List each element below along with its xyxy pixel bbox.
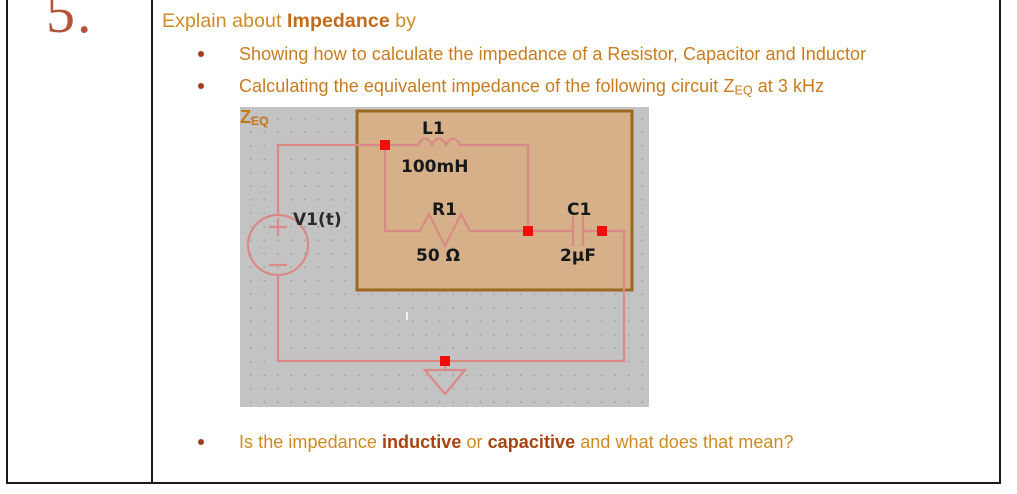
question-lead: Explain about Impedance by	[162, 10, 416, 33]
question-number: 5.	[46, 0, 94, 42]
component-ref-l1: L1	[422, 119, 445, 139]
bullet-dot-icon	[198, 439, 204, 445]
table-border-middle	[151, 0, 153, 484]
bullet3-p3: and what does that mean?	[575, 432, 793, 452]
bullet3-b2: capacitive	[488, 432, 576, 452]
bullet-dot-icon	[198, 51, 204, 57]
component-value-r1: 50 Ω	[416, 246, 460, 266]
table-border-right	[999, 0, 1001, 484]
node-marker-b	[523, 226, 533, 236]
bullet3-b1: inductive	[382, 432, 461, 452]
lead-prefix: Explain about	[162, 10, 287, 32]
ground-symbol-icon	[425, 370, 465, 394]
node-marker-ground	[440, 356, 450, 366]
table-border-left	[6, 0, 8, 484]
component-ref-c1: C1	[567, 200, 591, 220]
bullet3-p2: or	[461, 432, 487, 452]
bullet-inductive-or-capacitive: Is the impedance inductive or capacitive…	[198, 432, 794, 453]
table-border-bottom	[6, 482, 1001, 484]
circuit-diagram: L1 100mH R1 50 Ω C1 2µF V1(t) ZEQ	[240, 107, 649, 407]
component-value-c1: 2µF	[560, 246, 596, 266]
component-value-l1: 100mH	[401, 157, 468, 177]
node-marker-c	[597, 226, 607, 236]
bullet-calc-methods-label: Showing how to calculate the impedance o…	[239, 44, 866, 65]
slide-page: 5. Explain about Impedance by Showing ho…	[0, 0, 1017, 494]
lead-keyword: Impedance	[287, 10, 390, 32]
bullet3-p1: Is the impedance	[239, 432, 382, 452]
bullet2-subscript: EQ	[734, 83, 752, 97]
question-content: Explain about Impedance by Showing how t…	[162, 0, 994, 482]
bullet2-pre: Calculating the equivalent impedance of …	[239, 76, 734, 96]
bullet-calc-methods: Showing how to calculate the impedance o…	[198, 44, 866, 65]
node-marker-a	[380, 140, 390, 150]
image-speck	[406, 312, 408, 320]
bullet2-post: at 3 kHz	[753, 76, 824, 96]
bullet-inductive-or-capacitive-label: Is the impedance inductive or capacitive…	[239, 432, 794, 453]
component-ref-r1: R1	[432, 200, 457, 220]
lead-suffix: by	[390, 10, 416, 32]
bullet-dot-icon	[198, 83, 204, 89]
bullet-equivalent-impedance: Calculating the equivalent impedance of …	[198, 76, 824, 97]
voltage-source-label: V1(t)	[293, 210, 342, 230]
bullet-equivalent-impedance-label: Calculating the equivalent impedance of …	[239, 76, 824, 97]
